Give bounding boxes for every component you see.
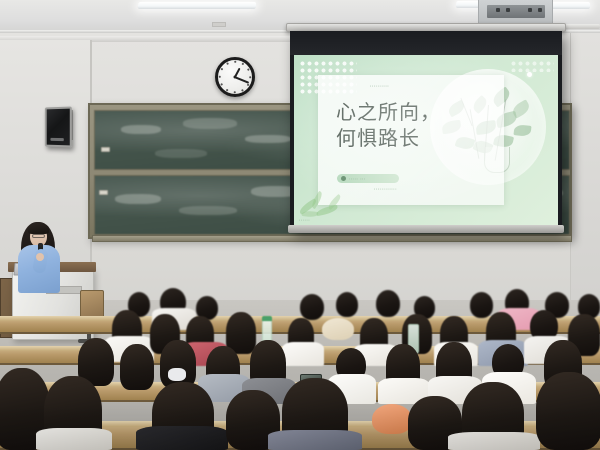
lecture-hall-photo: ▪▪▪▪▪▪▪▪▪▪ 心之所向， 何惧路长 ▫▫▫▫▫ ▫▫▫ ▪▪▪▪▪▪▪▪… (0, 0, 600, 450)
presenter (14, 218, 66, 298)
student-body (282, 342, 324, 366)
slide-title-card: ▪▪▪▪▪▪▪▪▪▪ 心之所向， 何惧路长 ▫▫▫▫▫ ▫▫▫ ▪▪▪▪▪▪▪▪… (318, 75, 504, 205)
student-head (300, 294, 324, 320)
slide-micro-text-bottom: ▪▪▪▪▪▪▪▪▪▪▪▪ (374, 187, 397, 191)
presentation-slide: ▪▪▪▪▪▪▪▪▪▪ 心之所向， 何惧路长 ▫▫▫▫▫ ▫▫▫ ▪▪▪▪▪▪▪▪… (294, 55, 558, 225)
wall-panel-right (570, 33, 600, 313)
student-head (336, 292, 358, 317)
slide-title-line-1: 心之所向， (336, 101, 441, 125)
beige-cap (322, 318, 354, 340)
corner-leaf-decoration (296, 191, 352, 221)
student-head (120, 344, 154, 390)
student-head (470, 292, 493, 318)
ceiling-vent (212, 22, 226, 27)
screen-bottom-weight-bar (288, 225, 564, 233)
accent-dot (527, 72, 532, 77)
student-head (376, 290, 400, 317)
wall-speaker (45, 107, 72, 148)
wall-clock (215, 57, 255, 97)
presenter-fringe (28, 223, 49, 234)
student-body (136, 426, 228, 450)
face-mask (168, 368, 186, 381)
presenter-hand (36, 253, 44, 261)
slide-corner-code: ▪▪▪▪▪▪ (299, 218, 310, 222)
slide-title-line-2: 何惧路长 (336, 127, 420, 151)
bottle-cap (262, 316, 272, 321)
student-head (536, 372, 600, 450)
chalk-eraser (99, 190, 108, 195)
slide-badge-label: ▫▫▫▫▫ ▫▫▫ (349, 177, 366, 181)
dot-grid-decoration-right (510, 60, 554, 72)
chalk-eraser (101, 147, 110, 152)
slide-micro-text-top: ▪▪▪▪▪▪▪▪▪▪ (370, 84, 389, 88)
orange-bag (372, 404, 412, 434)
ceiling-light-icon (138, 2, 257, 9)
chalk-tray (92, 235, 572, 242)
person-icon (341, 176, 346, 181)
student-body (448, 432, 540, 450)
student-body (268, 430, 362, 450)
glasses-icon (32, 234, 45, 238)
screen-dark-border (290, 31, 562, 55)
slide-subtitle-badge: ▫▫▫▫▫ ▫▫▫ (337, 174, 399, 183)
student-body (36, 428, 112, 450)
projector-mount (478, 0, 553, 24)
clock-ticks (222, 64, 248, 90)
